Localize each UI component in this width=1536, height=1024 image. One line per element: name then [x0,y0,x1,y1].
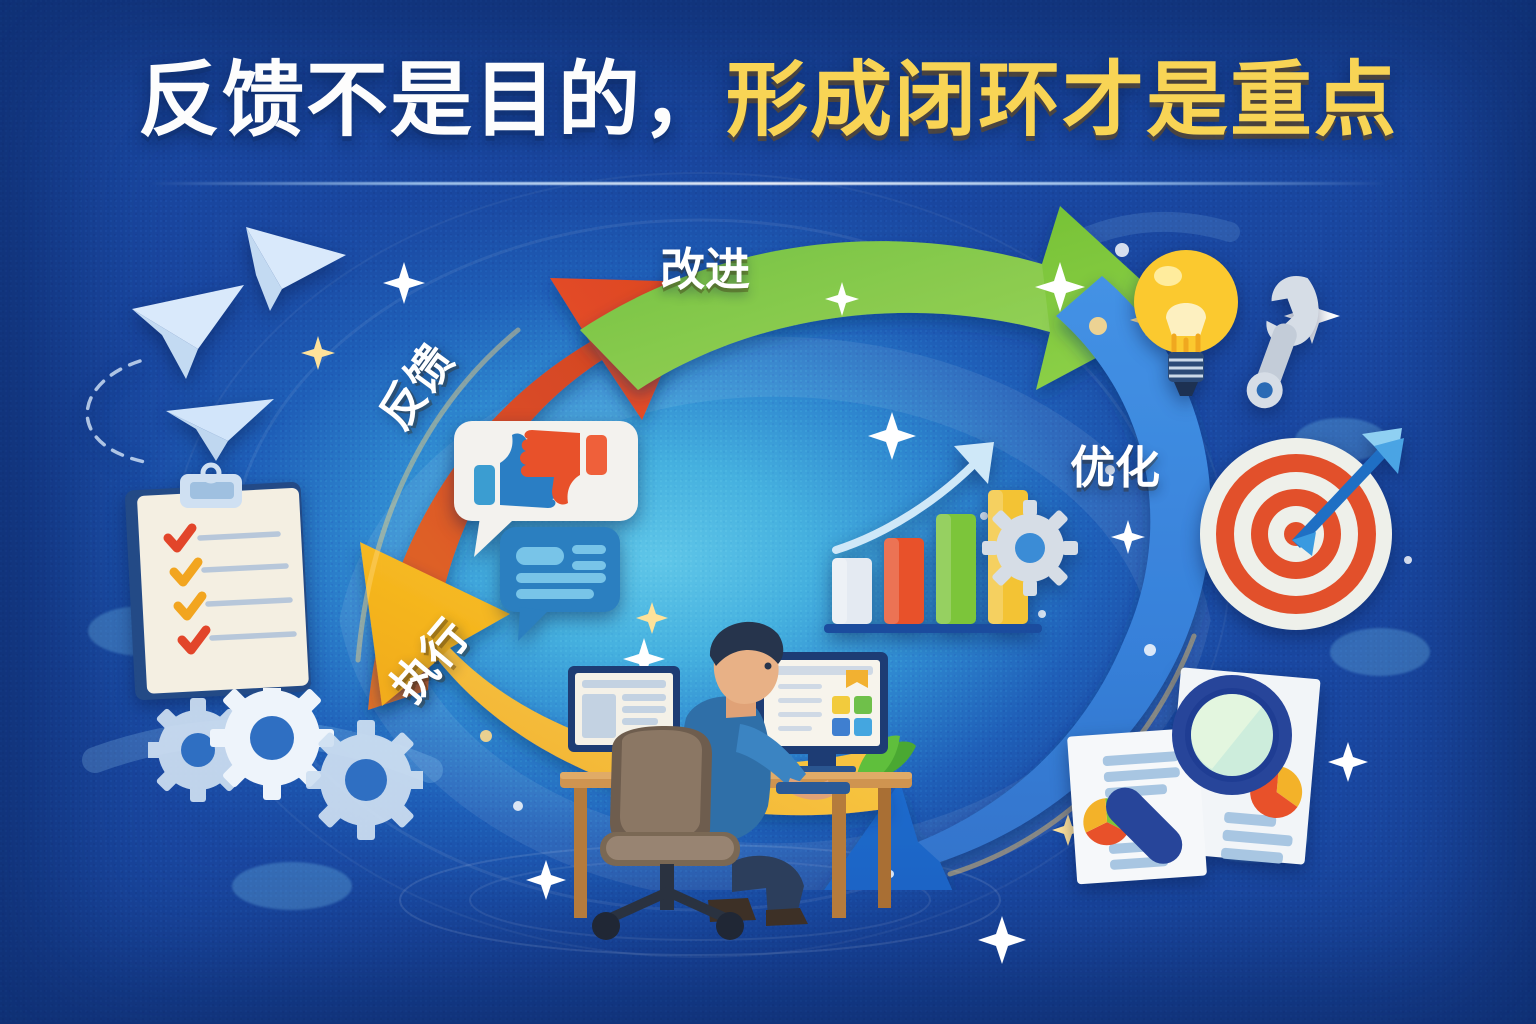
clipboard-checklist-icon [118,462,333,710]
lightbulb-icon [1126,240,1246,410]
gear-icon [982,500,1078,596]
desk-worker-scene [560,600,930,945]
paper-plane-icon [58,215,348,470]
wrench-icon [1238,268,1330,418]
magnifier-reports-icon [1062,665,1382,885]
page-title: 反馈不是目的，形成闭环才是重点 [0,58,1536,144]
title-gold-part: 形成闭环才是重点 [726,58,1398,144]
poster-canvas: 反馈不是目的，形成闭环才是重点 [0,0,1536,1024]
target-dart-icon [1196,428,1406,640]
arrow-label-optimize: 优化 [1070,431,1160,496]
gear-icon [148,688,423,868]
title-white-part: 反馈不是目的， [138,58,726,144]
arrow-label-improve: 改进 [660,233,750,298]
title-divider [148,182,1388,185]
